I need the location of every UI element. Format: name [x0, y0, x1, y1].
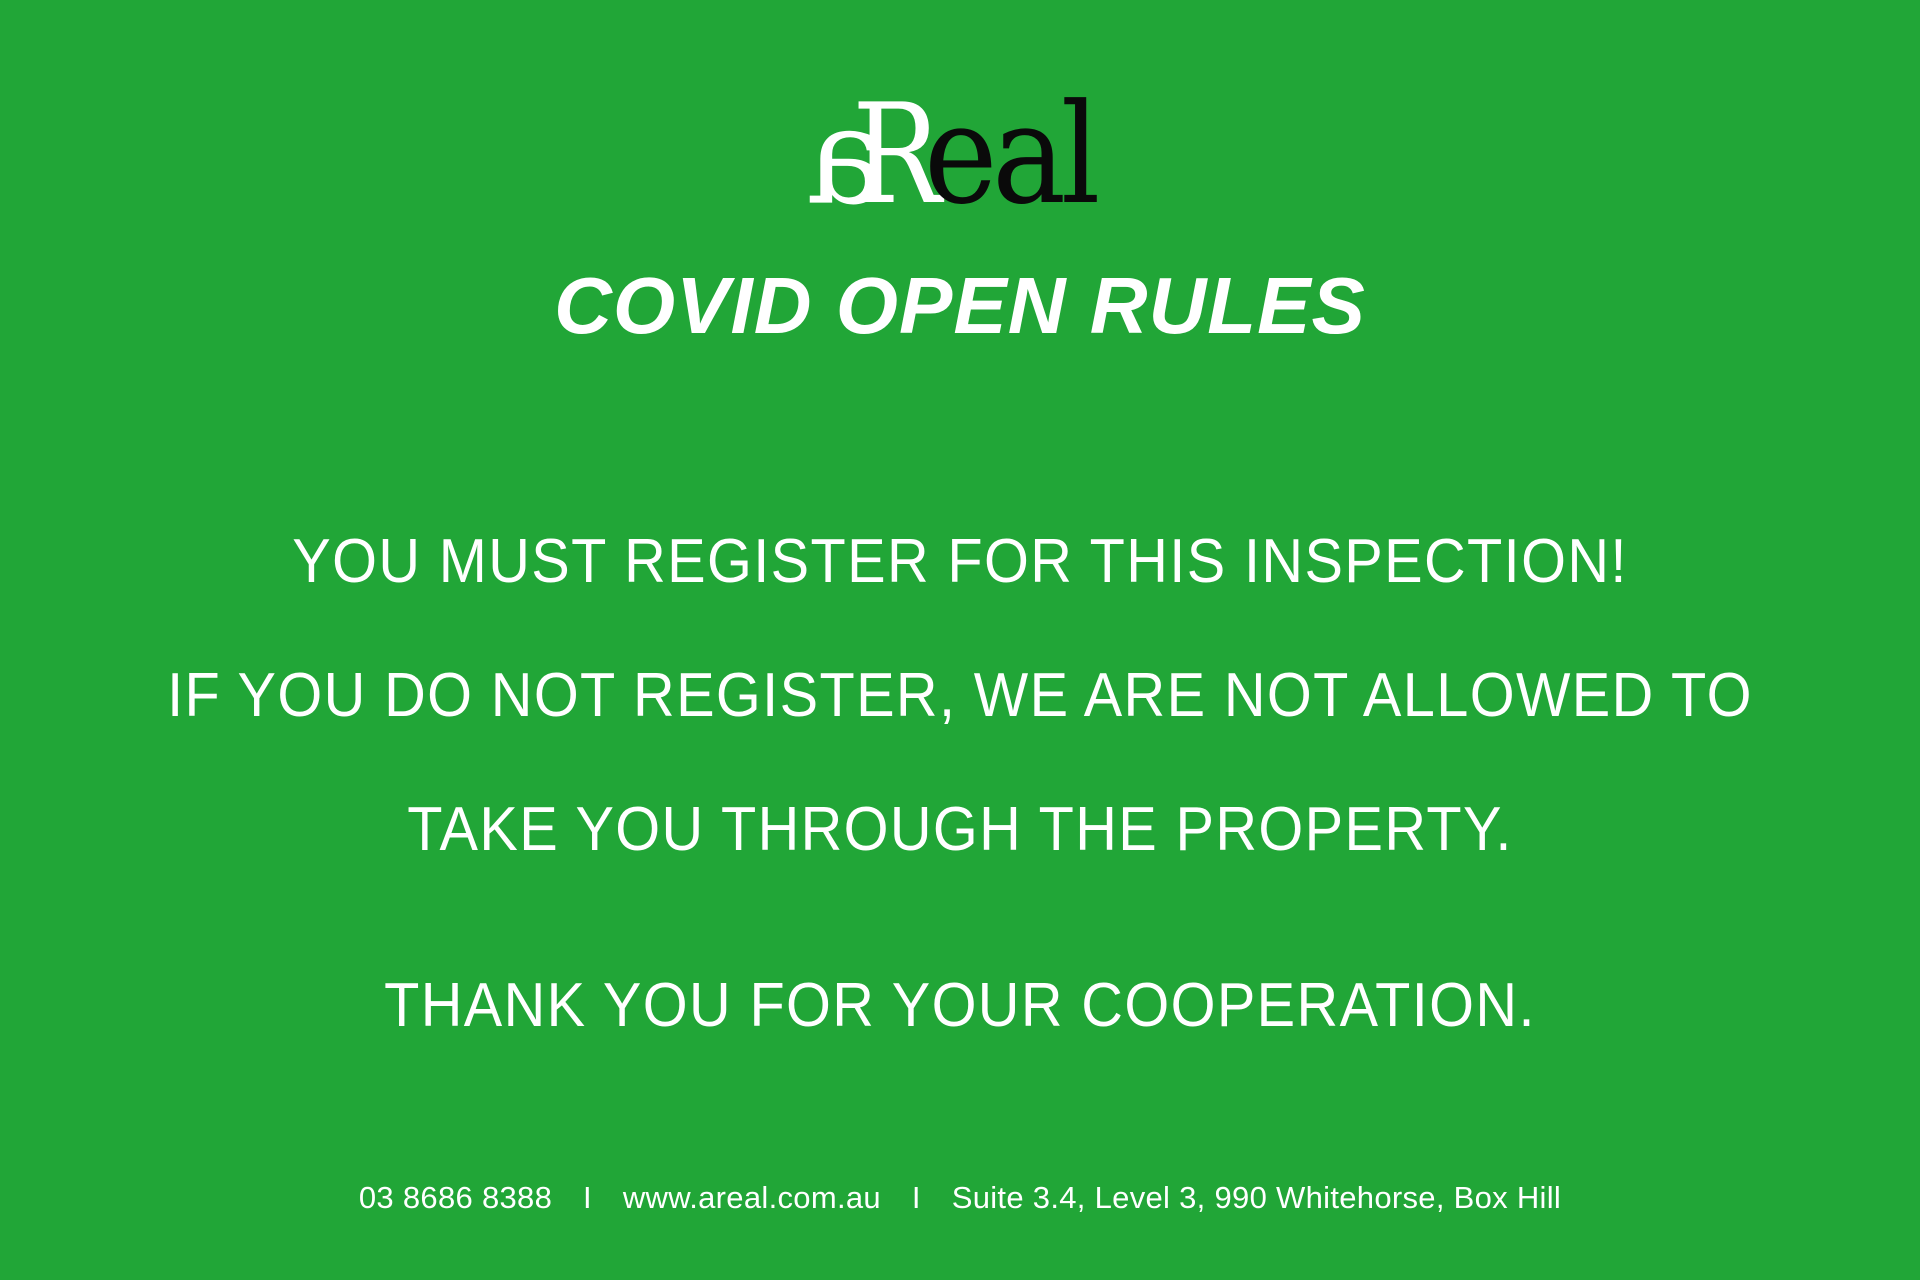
logo-letters-eal: eal	[924, 86, 1095, 224]
footer-separator-2: I	[890, 1180, 943, 1216]
footer-phone[interactable]: 03 8686 8388	[359, 1180, 552, 1216]
footer-separator-1: I	[561, 1180, 614, 1216]
body-line-1: YOU MUST REGISTER FOR THIS INSPECTION!	[67, 495, 1853, 629]
page-title: COVID OPEN RULES	[0, 262, 1920, 350]
closing-thank-you-text: THANK YOU FOR YOUR COOPERATION.	[67, 975, 1853, 1037]
poster-canvas: a R eal COVID OPEN RULES YOU MUST REGIST…	[0, 0, 1920, 1280]
areal-logo-lockup: a R eal	[800, 78, 1120, 218]
body-line-2: IF YOU DO NOT REGISTER, WE ARE NOT ALLOW…	[67, 629, 1853, 763]
body-text-block: YOU MUST REGISTER FOR THIS INSPECTION! I…	[0, 495, 1920, 897]
brand-logo: a R eal	[0, 78, 1920, 218]
footer-address: Suite 3.4, Level 3, 990 Whitehorse, Box …	[952, 1180, 1561, 1216]
footer-website[interactable]: www.areal.com.au	[623, 1180, 881, 1216]
body-line-3: TAKE YOU THROUGH THE PROPERTY.	[67, 763, 1853, 897]
footer-contact-bar: 03 8686 8388 I www.areal.com.au I Suite …	[0, 1180, 1920, 1216]
